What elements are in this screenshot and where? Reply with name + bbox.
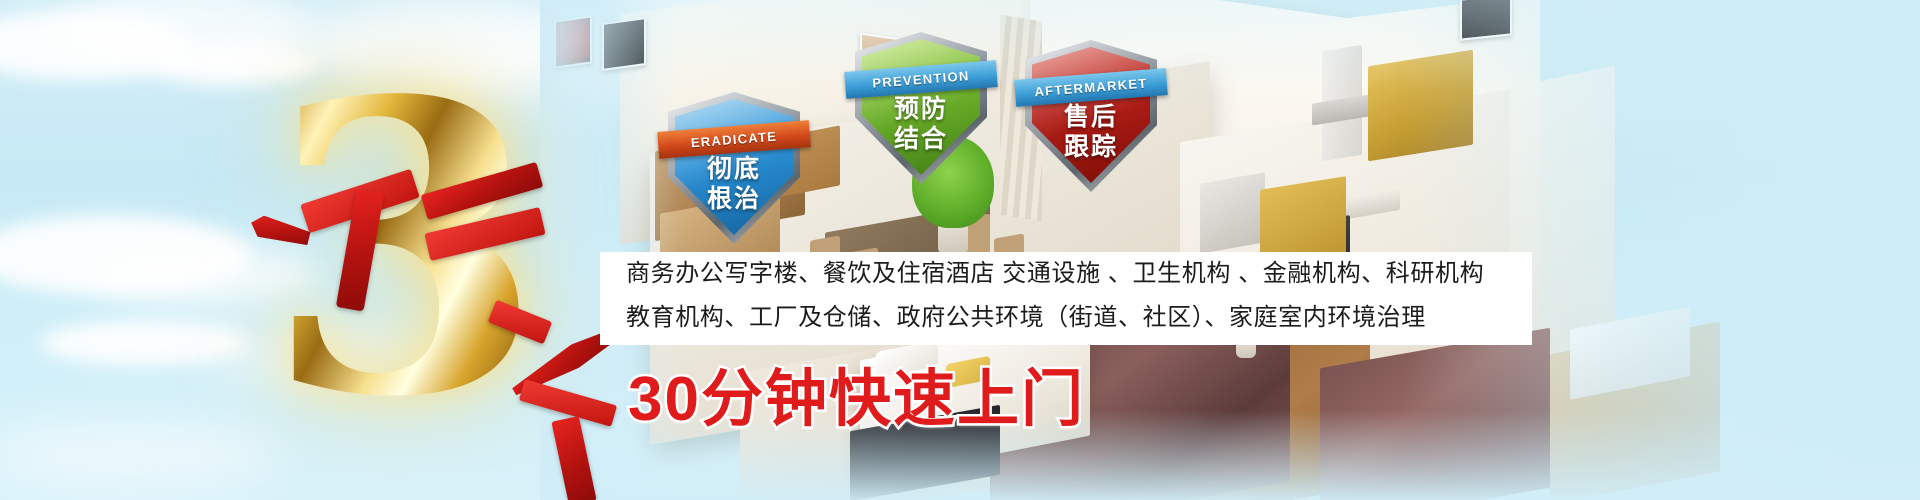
wall-picture-dark — [602, 17, 646, 71]
oven — [1200, 172, 1265, 253]
shield-banner-text: AFTERMARKET — [1034, 76, 1148, 100]
shield-banner-text: ERADICATE — [690, 129, 777, 151]
shield-chinese-label: 预防 结合 — [855, 94, 987, 154]
service-scope-card: 商务办公写字楼、餐饮及住宿酒店 交通设施 、卫生机构 、金融机构、科研机构 教育… — [600, 252, 1532, 345]
shield-prevention: PREVENTION 预防 结合 — [855, 32, 987, 184]
shield-cn-line1: 彻底 — [668, 154, 800, 184]
shield-chinese-label: 彻底 根治 — [668, 154, 800, 214]
shield-eradicate: ERADICATE 彻底 根治 — [668, 92, 800, 244]
golden-numeral-3: 3 — [240, 70, 570, 430]
service-scope-line-2: 教育机构、工厂及仓储、政府公共环境（街道、社区）、家庭室内环境治理 — [600, 296, 1532, 340]
shield-banner-text: PREVENTION — [872, 68, 970, 91]
shield-cn-line1: 售后 — [1025, 102, 1157, 132]
headline-text: 30分钟快速上门 — [628, 348, 1085, 438]
promo-banner: 3 ERADICATE 彻底 根治 PREVENTION 预防 — [0, 0, 1920, 500]
shield-aftermarket: AFTERMARKET 售后 跟踪 — [1025, 40, 1157, 192]
numeral-glyph: 3 — [240, 70, 570, 430]
shield-cn-line2: 根治 — [668, 184, 800, 214]
wall-picture-red — [554, 15, 592, 68]
shield-cn-line2: 结合 — [855, 124, 987, 154]
wall-picture-frame-top — [1460, 0, 1512, 41]
shield-cn-line2: 跟踪 — [1025, 132, 1157, 162]
shield-chinese-label: 售后 跟踪 — [1025, 102, 1157, 162]
service-scope-line-1: 商务办公写字楼、餐饮及住宿酒店 交通设施 、卫生机构 、金融机构、科研机构 — [600, 252, 1532, 296]
kitchen-upper-cabinet — [1368, 50, 1473, 162]
shield-cn-line1: 预防 — [855, 94, 987, 124]
